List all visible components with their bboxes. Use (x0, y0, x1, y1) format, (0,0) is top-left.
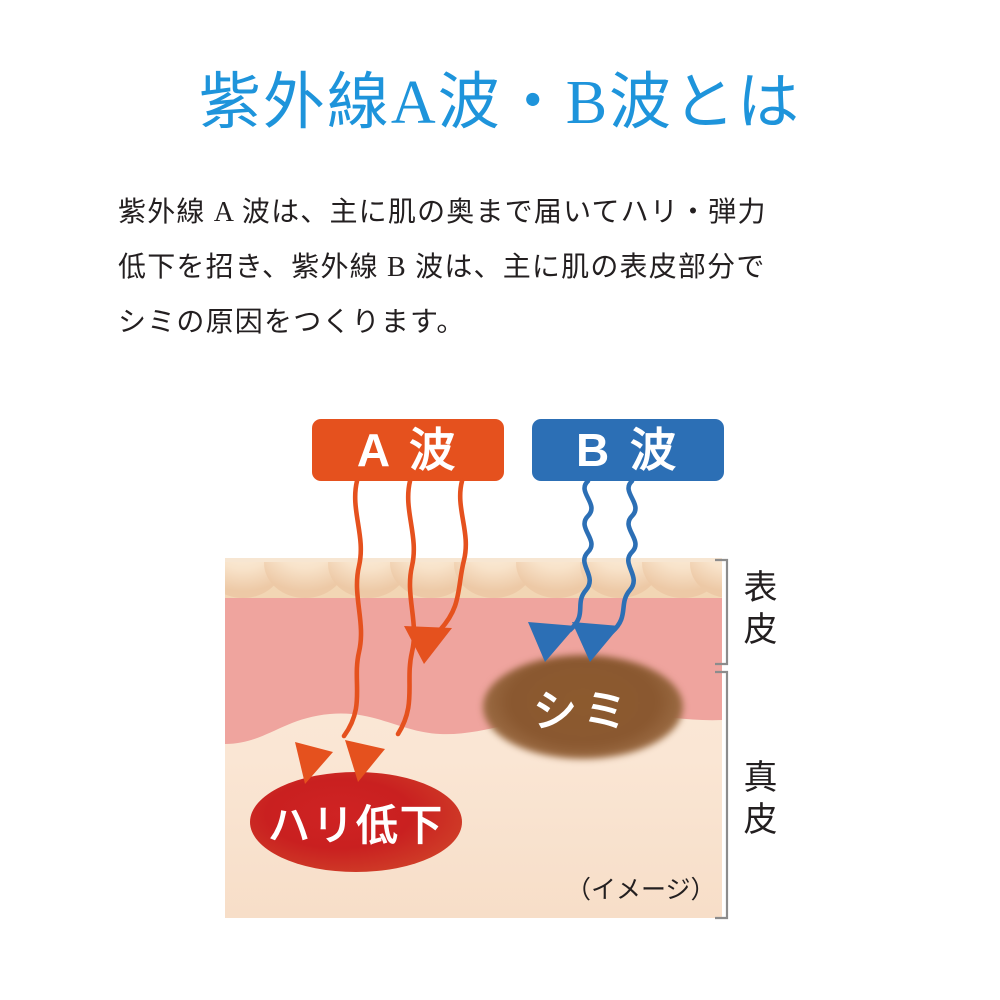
description-line-3: シミの原因をつくります。 (118, 295, 888, 350)
layer-label-epidermis: 表 皮 (740, 568, 782, 652)
layer-label-dermis: 真 皮 (740, 758, 782, 842)
image-caption: （イメージ） (566, 870, 716, 906)
infographic-root: 紫外線A波・B波とは 紫外線 A 波は、主に肌の奥まで届いてハリ・弾力 低下を招… (0, 0, 1000, 1000)
layer-label-epidermis-char-1: 表 (740, 568, 782, 610)
layer-label-dermis-char-2: 皮 (740, 800, 782, 842)
shimi-label: シミ (483, 655, 683, 759)
layer-label-dermis-char-1: 真 (740, 758, 782, 800)
label-chip-b-wave: B 波 (532, 419, 724, 481)
label-chip-a-wave: A 波 (312, 419, 504, 481)
stratum-corneum-layer (225, 558, 722, 598)
layer-label-epidermis-char-2: 皮 (740, 610, 782, 652)
hari-decline-label: ハリ低下 (250, 772, 462, 872)
description-line-2: 低下を招き、紫外線 B 波は、主に肌の表皮部分で (118, 240, 888, 295)
page-title: 紫外線A波・B波とは (0, 72, 1000, 134)
description-paragraph: 紫外線 A 波は、主に肌の奥まで届いてハリ・弾力 低下を招き、紫外線 B 波は、… (118, 185, 888, 350)
description-line-1: 紫外線 A 波は、主に肌の奥まで届いてハリ・弾力 (118, 185, 888, 240)
